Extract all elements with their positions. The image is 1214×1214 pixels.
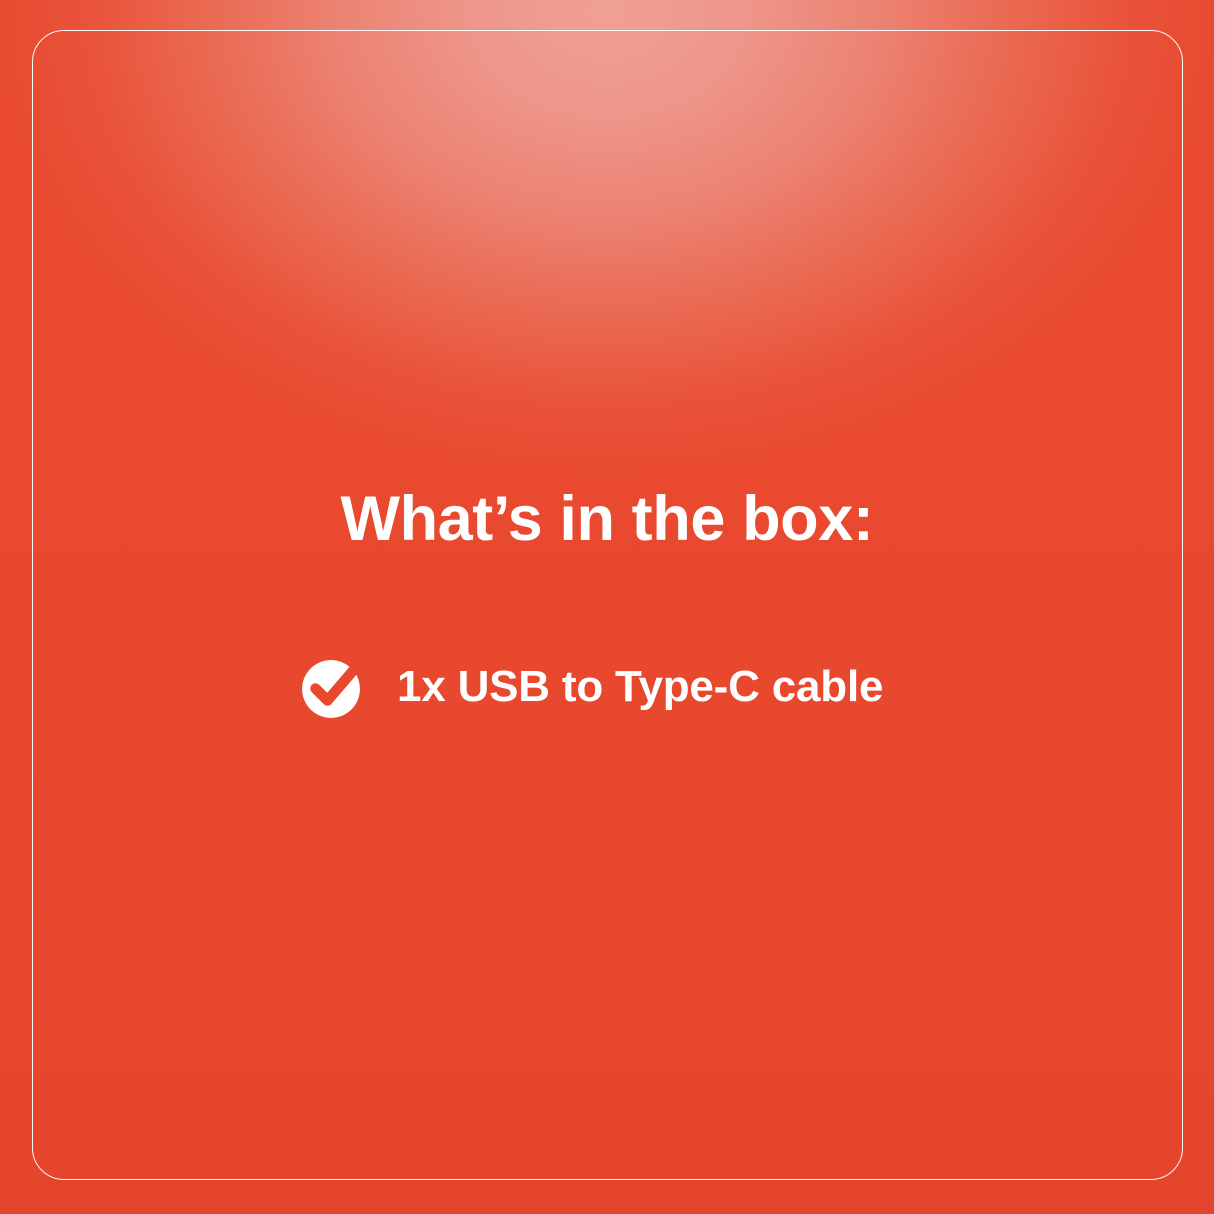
panel-content: What’s in the box: 1x USB to Type-C cabl… <box>0 0 1214 1214</box>
box-contents-list: 1x USB to Type-C cable <box>302 654 1002 720</box>
page-title: What’s in the box: <box>0 483 1214 555</box>
product-infographic-panel: What’s in the box: 1x USB to Type-C cabl… <box>0 0 1214 1214</box>
list-item-label: 1x USB to Type-C cable <box>397 661 883 713</box>
check-circle-icon <box>301 655 365 719</box>
list-item: 1x USB to Type-C cable <box>302 654 1002 720</box>
